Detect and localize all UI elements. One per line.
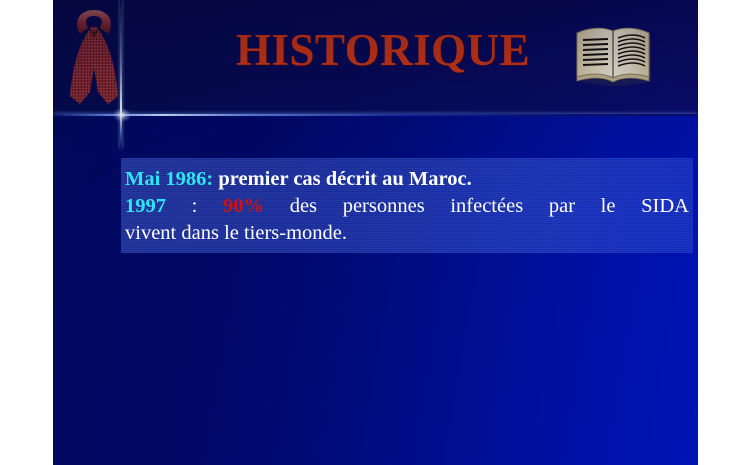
line2-percent: 90%	[223, 195, 264, 217]
line2-year: 1997	[125, 195, 166, 217]
header-divider	[53, 114, 698, 116]
slide-page: HISTORIQUE	[0, 0, 750, 465]
line2-text: des personnes infectées par le SIDA	[264, 195, 689, 217]
sparkle-glow	[113, 108, 131, 122]
slide-header: HISTORIQUE	[53, 0, 698, 116]
line3-text: vivent dans le tiers-monde.	[125, 222, 347, 244]
slide-canvas: HISTORIQUE	[53, 0, 698, 465]
content-line-3: vivent dans le tiers-monde.	[125, 220, 689, 247]
line1-highlight: Mai 1986:	[125, 168, 213, 190]
content-line-2: 1997 : 90% des personnes infectées par l…	[125, 193, 689, 220]
line2-separator: :	[166, 195, 223, 217]
content-text-block: Mai 1986: premier cas décrit au Maroc. 1…	[121, 158, 693, 253]
line1-text: premier cas décrit au Maroc.	[213, 168, 471, 190]
content-line-1: Mai 1986: premier cas décrit au Maroc.	[125, 166, 689, 193]
page-title: HISTORIQUE	[183, 28, 583, 73]
sparkle-vertical-line	[120, 0, 122, 148]
open-book-icon	[572, 22, 654, 86]
